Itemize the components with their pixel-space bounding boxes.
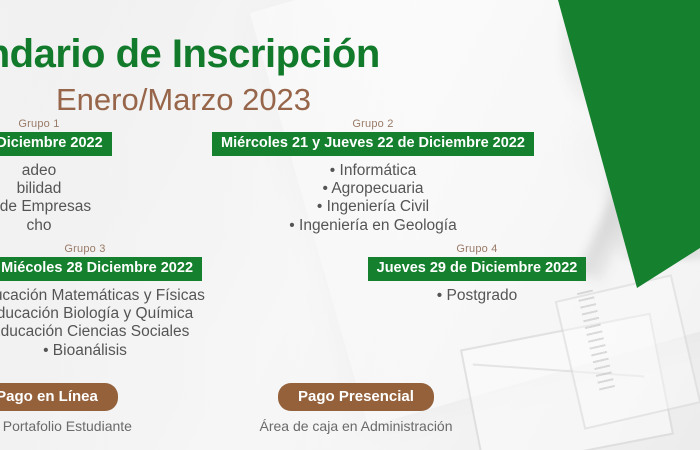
payment-note-in-person: Área de caja en Administración xyxy=(236,418,476,434)
group-label-3: Grupo 3 xyxy=(0,243,260,255)
list-item: • Informática xyxy=(183,162,563,179)
list-item: cho xyxy=(0,217,174,234)
group-date-badge-2: Miércoles 21 y Jueves 22 de Diciembre 20… xyxy=(212,132,534,156)
group-block-1: Grupo 1 de Diciembre 2022 adeo bilidad n… xyxy=(0,118,174,235)
group-label-1: Grupo 1 xyxy=(0,118,174,130)
payment-pill-in-person: Pago Presencial xyxy=(278,383,434,411)
group-label-4: Grupo 4 xyxy=(342,243,612,255)
group-items-4: • Postgrado xyxy=(342,287,612,304)
registration-calendar-poster: endario de Inscripción Enero/Marzo 2023 … xyxy=(0,0,700,450)
group-date-badge-3: 7 y Miécoles 28 Diciembre 2022 xyxy=(0,257,202,281)
group-label-2: Grupo 2 xyxy=(183,118,563,130)
list-item: • Educación Biología y Química xyxy=(0,305,260,322)
list-item: • Educación Matemáticas y Físicas xyxy=(0,287,260,304)
list-item: bilidad xyxy=(0,180,174,197)
page-subtitle: Enero/Marzo 2023 xyxy=(56,82,311,118)
payment-block-online: Pago en Línea ante tu Portafolio Estudia… xyxy=(0,383,174,434)
group-block-3: Grupo 3 7 y Miécoles 28 Diciembre 2022 •… xyxy=(0,243,260,360)
page-title: endario de Inscripción xyxy=(0,32,380,77)
group-block-4: Grupo 4 Jueves 29 de Diciembre 2022 • Po… xyxy=(342,243,612,305)
group-block-2: Grupo 2 Miércoles 21 y Jueves 22 de Dici… xyxy=(183,118,563,235)
group-date-badge-4: Jueves 29 de Diciembre 2022 xyxy=(368,257,587,281)
group-items-1: adeo bilidad n de Empresas cho xyxy=(0,162,174,234)
payment-note-online: ante tu Portafolio Estudiante xyxy=(0,418,174,434)
poster-content: endario de Inscripción Enero/Marzo 2023 … xyxy=(0,0,700,450)
payment-pill-online: Pago en Línea xyxy=(0,383,118,411)
list-item: • Bioanálisis xyxy=(0,342,260,359)
group-items-3: • Educación Matemáticas y Físicas • Educ… xyxy=(0,287,260,359)
group-date-badge-1: de Diciembre 2022 xyxy=(0,132,112,156)
list-item: • Ingeniería Civil xyxy=(183,198,563,215)
group-items-2: • Informática • Agropecuaria • Ingenierí… xyxy=(183,162,563,234)
list-item: • Ingeniería en Geología xyxy=(183,217,563,234)
list-item: n de Empresas xyxy=(0,198,174,215)
list-item: adeo xyxy=(0,162,174,179)
payment-block-in-person: Pago Presencial Área de caja en Administ… xyxy=(236,383,476,434)
list-item: • Postgrado xyxy=(342,287,612,304)
list-item: • Agropecuaria xyxy=(183,180,563,197)
list-item: • Educación Ciencias Sociales xyxy=(0,323,260,340)
